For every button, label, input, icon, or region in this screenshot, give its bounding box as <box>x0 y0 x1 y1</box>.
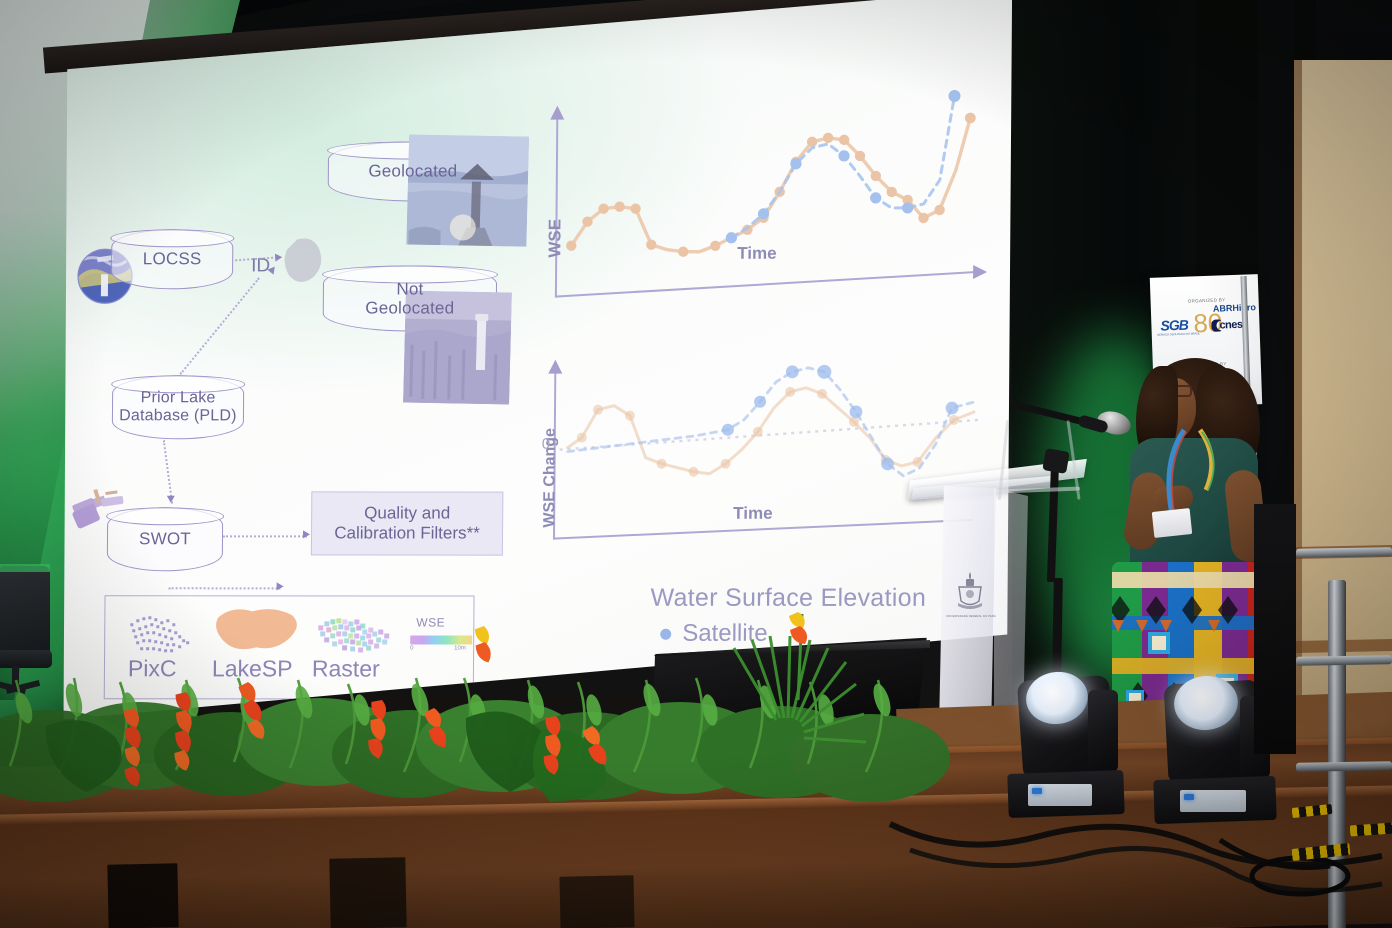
link-filters-arrowhead <box>303 530 310 538</box>
node-swot-label: SWOT <box>139 530 191 549</box>
railing-bar-middle <box>1296 655 1392 666</box>
quality-calibration-filters-box: Quality and Calibration Filters** <box>311 491 504 555</box>
chart2-zero-label: 0 <box>542 436 550 453</box>
filters-line2: Calibration Filters** <box>334 523 480 543</box>
node-swot: SWOT <box>107 507 224 571</box>
link-swot-to-filters <box>223 535 307 537</box>
speaker-badge <box>1152 508 1193 538</box>
node-locss: LOCSS <box>111 229 233 289</box>
link-products-arrowhead <box>277 582 284 590</box>
slide-content: LOCSS Prior Lake Database (PLD) <box>62 43 1007 684</box>
node-prior-lake-database: Prior Lake Database (PLD) <box>112 375 245 439</box>
chair-green-highlight <box>0 564 50 572</box>
chart2-plot <box>553 346 985 556</box>
chart-wse-change-vs-time: WSE Change Time 0 <box>517 346 989 576</box>
link-pld-to-swot <box>163 440 173 504</box>
filters-line1: Quality and <box>364 503 450 523</box>
chart1-plot <box>555 52 987 302</box>
stage-speaker-cabinet <box>1254 504 1296 754</box>
stage-panel-3 <box>559 875 634 928</box>
railing-bar-bottom <box>1296 761 1392 772</box>
stage-panel-1 <box>107 863 178 928</box>
node-prior-lake-database-line2: Database (PLD) <box>119 407 237 425</box>
link-swot-arrowhead <box>167 496 175 503</box>
node-prior-lake-database-line1: Prior Lake <box>141 389 216 407</box>
decision-blob-icon <box>279 235 325 287</box>
podium-crest-caption: UNIVERSIDADE FEDERAL DO PARÁ <box>942 615 1000 618</box>
railing-bar-top <box>1296 547 1392 558</box>
link-locss-arrowhead <box>275 253 282 261</box>
heliconia-tall <box>782 604 852 704</box>
chart1-gauge-points <box>566 112 976 257</box>
gauge-on-lake-photo <box>406 134 529 246</box>
ufpa-crest-icon <box>955 570 985 612</box>
chart-wse-vs-time: WSE Time <box>519 58 991 308</box>
abrhidro-logo: ABRHidro <box>1213 302 1256 313</box>
link-filters-to-products <box>169 587 281 589</box>
chart2-gauge-points <box>576 387 959 477</box>
mic-stand-clutch <box>1042 448 1069 474</box>
node-not-geolocated-line1: Not <box>396 279 423 298</box>
cnes-mark-icon <box>1211 319 1223 331</box>
presentation-photo: LOCSS Prior Lake Database (PLD) <box>0 0 1392 928</box>
link-pld-to-id <box>180 277 260 375</box>
chart1-gauge-line <box>571 118 970 252</box>
node-geolocated-label: Geolocated <box>368 162 457 181</box>
sgb-logo: SGB <box>1160 317 1188 334</box>
node-locss-label: LOCSS <box>143 250 202 269</box>
node-not-geolocated-line2: Geolocated <box>365 298 454 317</box>
light-left-arm <box>1088 690 1118 772</box>
stage-panel-2 <box>329 857 406 928</box>
